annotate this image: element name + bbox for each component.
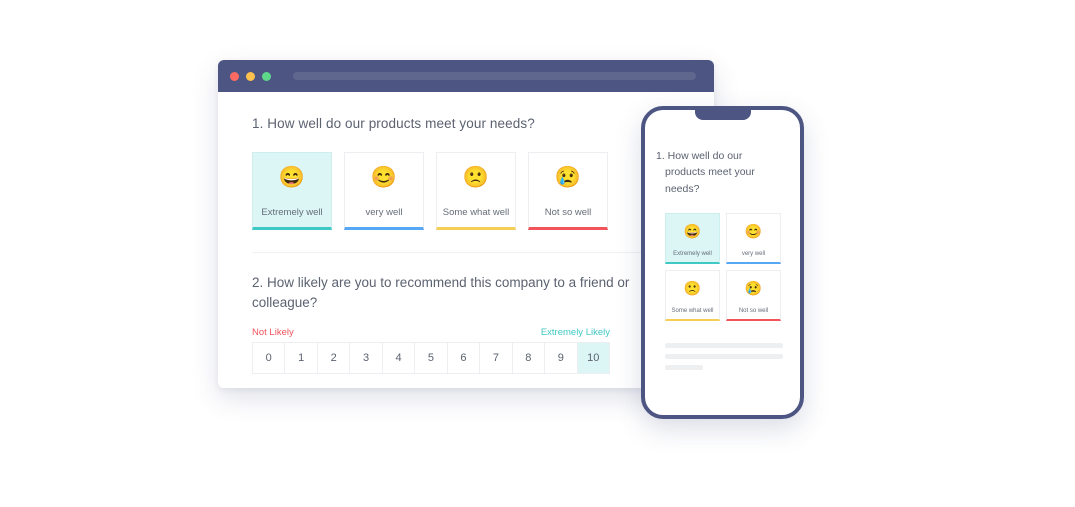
answer-card-label: Some what well [437, 207, 515, 218]
phone-survey-page: 1. How well do our products meet your ne… [645, 110, 800, 370]
window-controls [230, 72, 271, 81]
phone-question-1-options: 😄 Extremely well 😊 very well 🙁 Some what… [661, 213, 784, 321]
nps-cell-7[interactable]: 7 [480, 343, 512, 373]
slightly-frowning-face-icon: 🙁 [463, 167, 489, 188]
question-2-section: 2. How likely are you to recommend this … [252, 273, 684, 375]
answer-card-label: Extremely well [253, 207, 331, 218]
browser-titlebar [218, 60, 714, 92]
screenshot-root: 1. How well do our products meet your ne… [0, 0, 1075, 507]
placeholder-line [665, 343, 783, 348]
nps-scale: 0 1 2 3 4 5 6 7 8 9 10 [252, 342, 610, 374]
phone-notch-icon [695, 109, 751, 120]
phone-answer-card-label: Extremely well [666, 251, 719, 257]
answer-card-very-well[interactable]: 😊 very well [344, 152, 424, 230]
phone-question-1-title: 1. How well do our products meet your ne… [661, 148, 784, 197]
nps-cell-0[interactable]: 0 [253, 343, 285, 373]
phone-answer-card-very-well[interactable]: 😊 very well [726, 213, 781, 264]
crying-face-icon: 😢 [727, 281, 780, 295]
phone-content-placeholder [661, 343, 784, 370]
phone-answer-card-label: Some what well [666, 308, 719, 314]
close-window-icon[interactable] [230, 72, 239, 81]
nps-cell-10[interactable]: 10 [578, 343, 609, 373]
crying-face-icon: 😢 [555, 167, 581, 188]
question-2-title: 2. How likely are you to recommend this … [252, 273, 684, 314]
answer-card-label: Not so well [529, 207, 607, 218]
nps-low-label: Not Likely [252, 327, 294, 338]
nps-cell-5[interactable]: 5 [415, 343, 447, 373]
grinning-face-smiling-eyes-icon: 😄 [666, 224, 719, 238]
section-divider [252, 252, 684, 253]
phone-answer-card-extremely-well[interactable]: 😄 Extremely well [665, 213, 720, 264]
nps-cell-2[interactable]: 2 [318, 343, 350, 373]
nps-endpoint-labels: Not Likely Extremely Likely [252, 327, 610, 338]
nps-cell-8[interactable]: 8 [513, 343, 545, 373]
placeholder-line [665, 354, 783, 359]
nps-cell-4[interactable]: 4 [383, 343, 415, 373]
survey-page: 1. How well do our products meet your ne… [218, 92, 714, 388]
nps-cell-3[interactable]: 3 [350, 343, 382, 373]
smiling-face-smiling-eyes-icon: 😊 [727, 224, 780, 238]
phone-answer-card-not-so-well[interactable]: 😢 Not so well [726, 270, 781, 321]
phone-answer-card-some-what-well[interactable]: 🙁 Some what well [665, 270, 720, 321]
grinning-face-smiling-eyes-icon: 😄 [279, 167, 305, 188]
slightly-frowning-face-icon: 🙁 [666, 281, 719, 295]
question-1-options: 😄 Extremely well 😊 very well 🙁 Some what… [252, 152, 684, 230]
browser-window: 1. How well do our products meet your ne… [218, 60, 714, 388]
address-bar[interactable] [293, 72, 696, 80]
answer-card-extremely-well[interactable]: 😄 Extremely well [252, 152, 332, 230]
answer-card-some-what-well[interactable]: 🙁 Some what well [436, 152, 516, 230]
nps-cell-1[interactable]: 1 [285, 343, 317, 373]
placeholder-line [665, 365, 703, 370]
nps-high-label: Extremely Likely [541, 327, 610, 338]
smiling-face-smiling-eyes-icon: 😊 [371, 167, 397, 188]
minimize-window-icon[interactable] [246, 72, 255, 81]
answer-card-label: very well [345, 207, 423, 218]
nps-cell-6[interactable]: 6 [448, 343, 480, 373]
phone-answer-card-label: very well [727, 251, 780, 257]
answer-card-not-so-well[interactable]: 😢 Not so well [528, 152, 608, 230]
phone-answer-card-label: Not so well [727, 308, 780, 314]
nps-cell-9[interactable]: 9 [545, 343, 577, 373]
phone-mockup: 1. How well do our products meet your ne… [641, 106, 804, 419]
maximize-window-icon[interactable] [262, 72, 271, 81]
question-1-title: 1. How well do our products meet your ne… [252, 114, 684, 134]
